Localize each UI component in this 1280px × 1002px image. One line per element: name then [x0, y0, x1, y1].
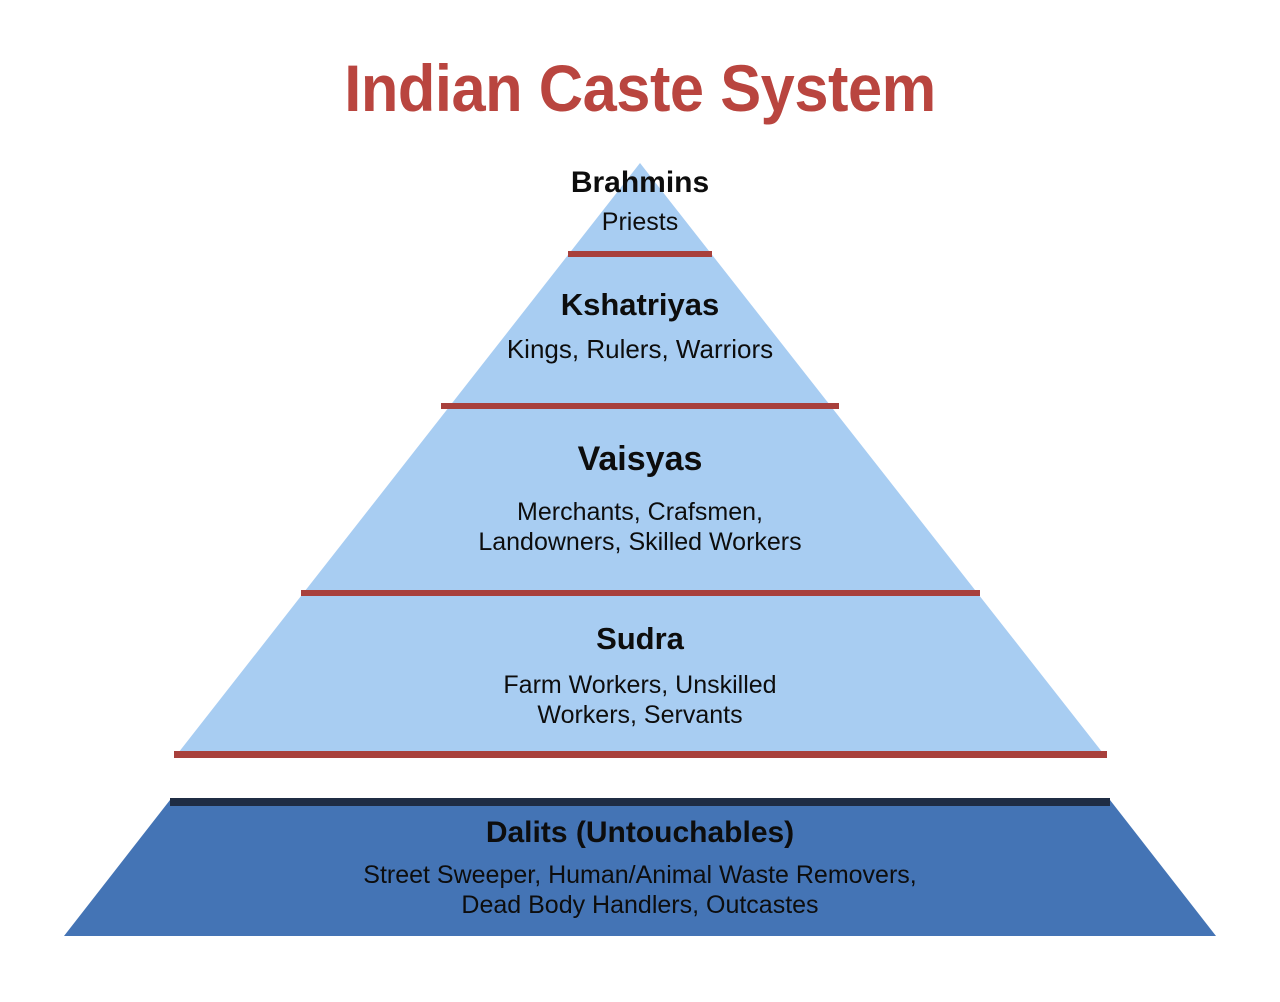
tier-vaisyas-description-line-1: Merchants, Crafsmen, — [0, 497, 1280, 527]
tier-kshatriyas-description-line-1: Kings, Rulers, Warriors — [0, 334, 1280, 365]
tier-sudra-description-line-1: Farm Workers, Unskilled — [0, 670, 1280, 700]
tier-vaisyas-description: Merchants, Crafsmen, Landowners, Skilled… — [0, 497, 1280, 557]
tier-divider-4 — [174, 751, 1107, 758]
tier-dalits-description: Street Sweeper, Human/Animal Waste Remov… — [0, 860, 1280, 920]
tier-vaisyas-title: Vaisyas — [0, 440, 1280, 478]
tier-dalits: Dalits (Untouchables) Street Sweeper, Hu… — [0, 816, 1280, 920]
tier-sudra-description: Farm Workers, Unskilled Workers, Servant… — [0, 670, 1280, 730]
tier-kshatriyas-title: Kshatriyas — [0, 288, 1280, 323]
tier-dalits-description-line-2: Dead Body Handlers, Outcastes — [0, 890, 1280, 920]
tier-kshatriyas: Kshatriyas Kings, Rulers, Warriors — [0, 288, 1280, 365]
tier-sudra-description-line-2: Workers, Servants — [0, 700, 1280, 730]
tier-brahmins-title: Brahmins — [0, 166, 1280, 200]
tier-divider-3 — [301, 590, 980, 596]
tier-dalits-description-line-1: Street Sweeper, Human/Animal Waste Remov… — [0, 860, 1280, 890]
tier-sudra: Sudra Farm Workers, Unskilled Workers, S… — [0, 622, 1280, 730]
tier-vaisyas: Vaisyas Merchants, Crafsmen, Landowners,… — [0, 440, 1280, 557]
tier-vaisyas-description-line-2: Landowners, Skilled Workers — [0, 527, 1280, 557]
tier-dalits-title: Dalits (Untouchables) — [0, 816, 1280, 850]
tier-kshatriyas-description: Kings, Rulers, Warriors — [0, 334, 1280, 365]
tier-brahmins: Brahmins Priests — [0, 166, 1280, 237]
tier-brahmins-description: Priests — [0, 207, 1280, 237]
base-band-top-border — [170, 798, 1110, 806]
tier-divider-2 — [441, 403, 839, 409]
diagram-canvas: Indian Caste System Brahmins Priests Ksh… — [0, 0, 1280, 1002]
tier-divider-1 — [568, 251, 712, 257]
tier-brahmins-description-line-1: Priests — [0, 207, 1280, 237]
tier-sudra-title: Sudra — [0, 622, 1280, 657]
